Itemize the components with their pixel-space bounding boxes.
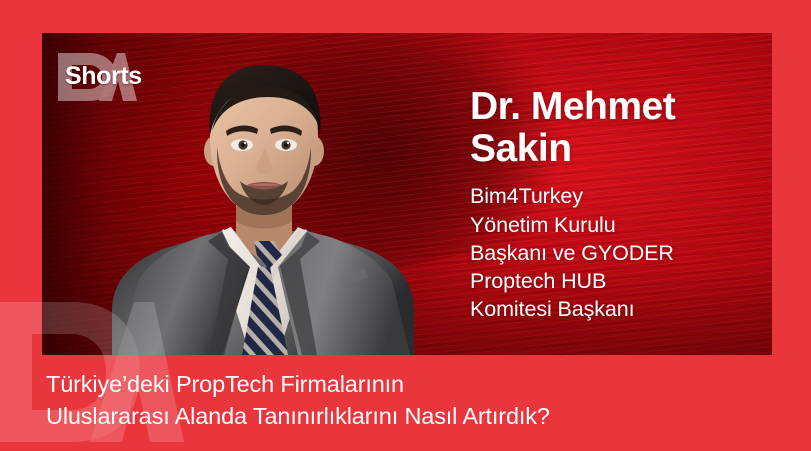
- caption-line: Türkiye’deki PropTech Firmalarının: [46, 368, 786, 400]
- speaker-title: Bim4Turkey Yönetim Kurulu Başkanı ve GYO…: [470, 182, 760, 323]
- speaker-title-line: Yönetim Kurulu: [470, 211, 760, 239]
- speaker-title-line: Bim4Turkey: [470, 182, 760, 210]
- speaker-title-line: Proptech HUB: [470, 267, 760, 295]
- shorts-badge[interactable]: Shorts: [55, 49, 181, 105]
- caption-line: Uluslararası Alanda Tanınırlıklarını Nas…: [46, 400, 786, 432]
- speaker-info-block: Dr. Mehmet Sakin Bim4Turkey Yönetim Kuru…: [470, 86, 760, 323]
- shorts-badge-label: Shorts: [65, 64, 142, 89]
- video-card[interactable]: Shorts Dr. Mehmet Sakin Bim4Turkey Yönet…: [42, 33, 772, 355]
- video-thumbnail-stage: Shorts Dr. Mehmet Sakin Bim4Turkey Yönet…: [0, 0, 811, 451]
- speaker-name: Dr. Mehmet Sakin: [470, 86, 760, 169]
- video-caption: Türkiye’deki PropTech Firmalarının Ulusl…: [46, 368, 786, 433]
- speaker-title-line: Komitesi Başkanı: [470, 295, 760, 323]
- speaker-title-line: Başkanı ve GYODER: [470, 239, 760, 267]
